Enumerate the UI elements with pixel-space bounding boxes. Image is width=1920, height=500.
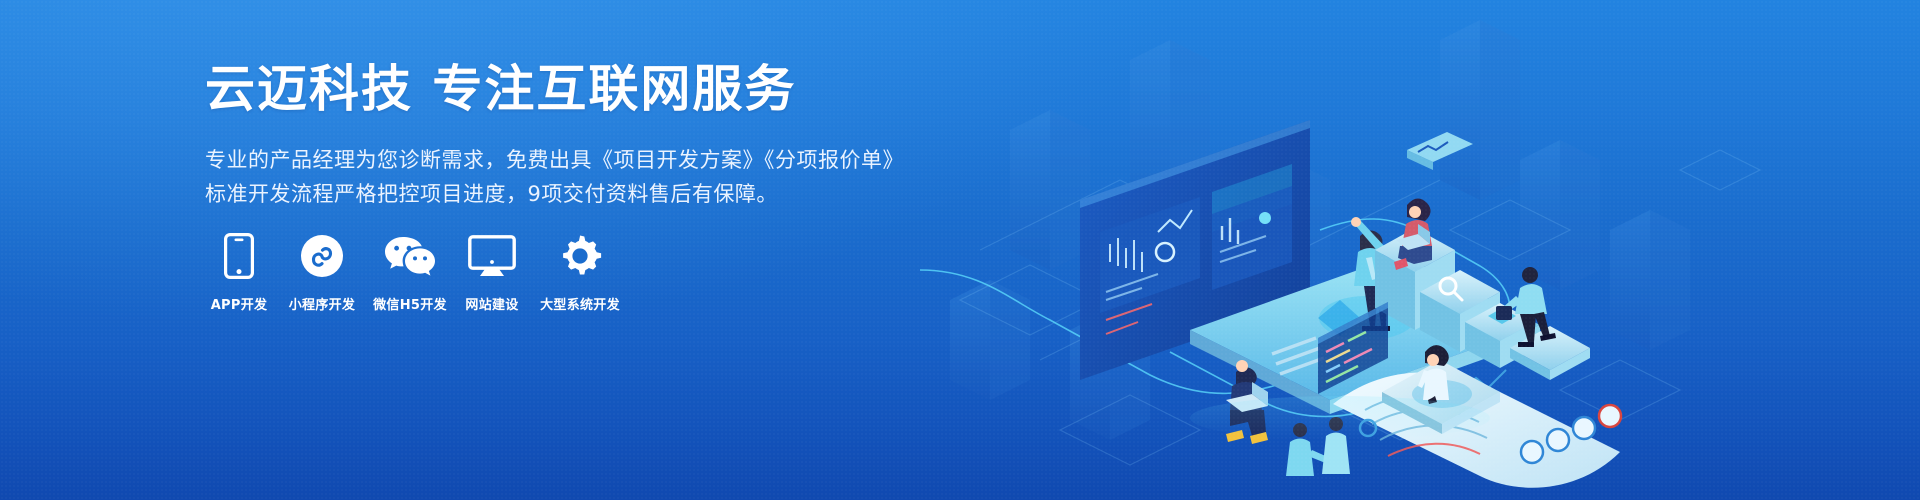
service-item-wechat-h5[interactable]: 微信H5开发 xyxy=(366,232,454,313)
hero-banner: 云迈科技 专注互联网服务 专业的产品经理为您诊断需求，免费出具《项目开发方案》《… xyxy=(0,0,1920,500)
page-title: 云迈科技 专注互联网服务 xyxy=(205,62,905,117)
mobile-phone-icon xyxy=(224,232,254,280)
service-label: 小程序开发 xyxy=(289,294,356,313)
monitor-icon xyxy=(468,232,516,280)
service-item-app[interactable]: APP开发 xyxy=(200,232,278,313)
isometric-data-dashboard-illustration xyxy=(920,0,1920,500)
gear-icon xyxy=(558,232,602,280)
service-item-mini-program[interactable]: 小程序开发 xyxy=(278,232,366,313)
service-label: 大型系统开发 xyxy=(540,294,620,313)
service-label: 网站建设 xyxy=(465,294,518,313)
wechat-icon xyxy=(384,232,436,280)
mini-program-icon xyxy=(300,232,344,280)
service-item-website[interactable]: 网站建设 xyxy=(454,232,530,313)
service-label: APP开发 xyxy=(211,294,268,313)
service-item-large-system[interactable]: 大型系统开发 xyxy=(530,232,630,313)
service-list: APP开发 小程序开发 xyxy=(200,232,630,313)
banner-content: 云迈科技 专注互联网服务 专业的产品经理为您诊断需求，免费出具《项目开发方案》《… xyxy=(205,62,905,211)
service-label: 微信H5开发 xyxy=(373,294,447,313)
subtitle-line-2: 标准开发流程严格把控项目进度，9项交付资料售后有保障。 xyxy=(205,177,905,211)
subtitle-line-1: 专业的产品经理为您诊断需求，免费出具《项目开发方案》《分项报价单》 xyxy=(205,143,905,177)
